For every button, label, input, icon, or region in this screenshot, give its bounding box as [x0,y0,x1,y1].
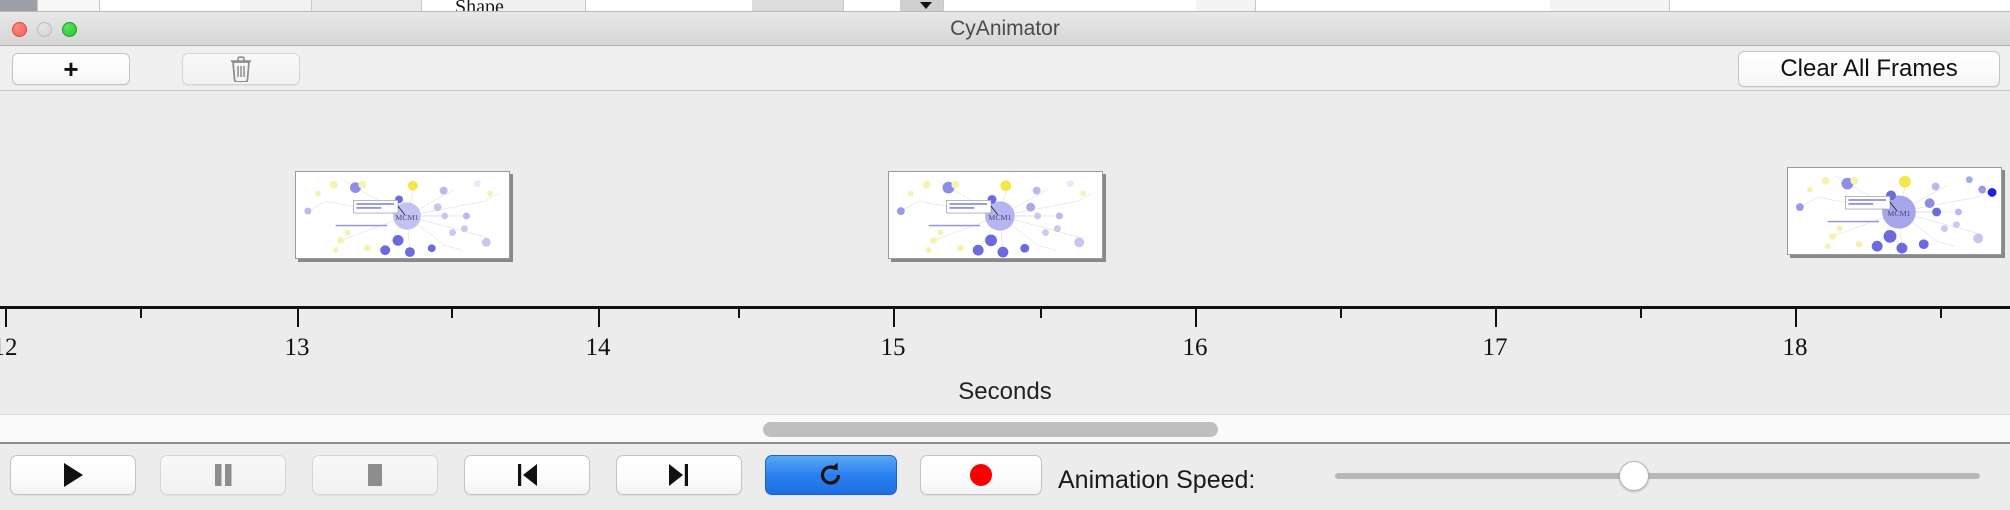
skip-back-icon [514,461,540,489]
clear-all-frames-button[interactable]: Clear All Frames [1738,51,2000,87]
axis-tick [1340,309,1342,318]
slider-thumb[interactable] [1619,461,1649,491]
scrollbar-thumb[interactable] [763,422,1218,437]
axis-tick-label: 15 [881,334,906,362]
axis-tick [1040,309,1042,318]
axis-tick [5,309,7,327]
axis-tick [893,309,895,327]
title-bar: CyAnimator [0,12,2010,46]
animation-speed-label: Animation Speed: [1058,466,1255,495]
cyanimator-window: Shape CyAnimator + Clear All Frames [0,0,2010,510]
axis-tick [1495,309,1497,327]
play-icon [60,461,86,489]
record-button[interactable] [920,455,1042,495]
frames-area: MCM1 [0,91,2010,306]
record-icon [968,462,994,488]
skip-forward-icon [666,461,692,489]
axis-tick [1795,309,1797,327]
skip-to-end-button[interactable] [616,455,742,495]
loop-icon [816,460,846,490]
timeline-panel: MCM1 [0,91,2010,414]
axis-tick [1940,309,1942,318]
timeline-frame[interactable]: MCM1 [888,171,1103,259]
background-window-strip: Shape [0,0,2010,12]
animation-speed-slider[interactable] [1335,473,1980,479]
axis-tick-label: 12 [0,334,18,362]
frame-hub-label: MCM1 [1887,209,1910,218]
background-window-label: Shape [455,0,504,12]
frame-toolbar: + Clear All Frames [0,46,2010,91]
axis-tick [1195,309,1197,327]
timeline-scrollbar[interactable] [0,414,2010,444]
axis-tick-label: 17 [1483,334,1508,362]
playback-bar: Animation Speed: [0,446,2010,510]
frame-hub-label: MCM1 [395,213,418,222]
stop-icon [363,461,387,489]
window-title: CyAnimator [0,12,2010,46]
frame-hub-label: MCM1 [988,213,1011,222]
timeline-frame[interactable]: MCM1 [295,171,510,259]
clear-all-frames-label: Clear All Frames [1780,55,1957,83]
axis-title: Seconds [0,378,2010,406]
axis-tick-label: 13 [285,334,310,362]
delete-frame-button[interactable] [182,53,300,85]
slider-track [1335,473,1980,479]
axis-tick [738,309,740,318]
axis-tick [297,309,299,327]
axis-tick [451,309,453,318]
plus-icon: + [63,56,78,82]
axis-tick-label: 18 [1783,334,1808,362]
add-frame-button[interactable]: + [12,53,130,85]
axis-tick-label: 14 [586,334,611,362]
stop-button[interactable] [312,455,438,495]
axis-tick [140,309,142,318]
pause-icon [211,461,235,489]
play-button[interactable] [10,455,136,495]
timeline-axis[interactable]: 12131415161718 Seconds [0,306,2010,414]
axis-line [0,306,2010,309]
timeline-frame[interactable]: MCM1 [1787,167,2002,255]
pause-button[interactable] [160,455,286,495]
loop-button[interactable] [765,455,897,495]
axis-tick [1640,309,1642,318]
trash-icon [230,56,252,82]
axis-tick-label: 16 [1183,334,1208,362]
skip-to-start-button[interactable] [464,455,590,495]
axis-tick [598,309,600,327]
